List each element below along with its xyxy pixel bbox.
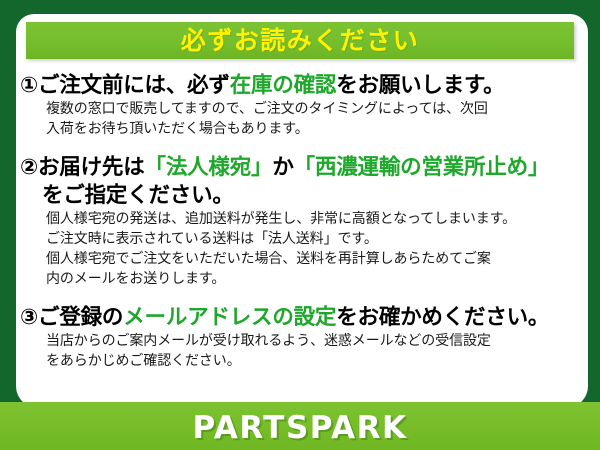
brand-logo: PARTSPARK: [0, 410, 600, 446]
notice-item-2-heading-highlight-2: 「西濃運輸の営業所止め」: [294, 155, 550, 180]
notice-item-3-heading-part-1: ご登録の: [38, 305, 123, 330]
notice-item-1-body: 複数の窓口で販売してますので、ご注文のタイミングによっては、次回 入荷をお待ち頂…: [20, 100, 505, 140]
notice-item-1: ①ご注文前には、必ず在庫の確認をお願いします。 複数の窓口で販売してますので、ご…: [20, 72, 505, 140]
notice-item-2-body: 個人様宅宛の発送は、追加送料が発生し、非常に高額となってしまいます。 ご注文時に…: [20, 210, 549, 290]
notice-item-3-heading-part-3: をお確かめください。: [336, 305, 549, 330]
notice-item-2-body-line-4: 内のメールをお送りします。: [46, 270, 549, 290]
footer-banner: PARTSPARK: [0, 402, 600, 450]
notice-item-2-body-line-3: 個人様宅宛でご注文をいただいた場合、送料を再計算しあらためてご案: [46, 250, 549, 270]
header-title: 必ずお読みください: [26, 22, 574, 59]
notice-item-3-heading-highlight: メールアドレスの設定: [123, 305, 336, 330]
notice-item-3-heading: ③ご登録のメールアドレスの設定をお確かめください。: [20, 304, 549, 332]
notice-card: 必ずお読みください ①ご注文前には、必ず在庫の確認をお願いします。 複数の窓口で…: [0, 0, 600, 450]
header-banner: 必ずお読みください: [26, 22, 574, 59]
notice-item-2-heading-part-1: お届け先は: [38, 155, 145, 180]
notice-item-3-body-line-1: 当店からのご案内メールが受け取れるよう、迷惑メールなどの受信設定: [46, 332, 549, 352]
notice-item-3-body: 当店からのご案内メールが受け取れるよう、迷惑メールなどの受信設定 をあらかじめご…: [20, 332, 549, 372]
notice-item-2-heading-continuation: をご指定ください。: [20, 182, 549, 210]
notice-item-1-heading: ①ご注文前には、必ず在庫の確認をお願いします。: [20, 72, 505, 100]
notice-item-2: ②お届け先は「法人様宛」か「西濃運輸の営業所止め」 をご指定ください。 個人様宅…: [20, 154, 549, 289]
notice-item-2-heading-highlight-1: 「法人様宛」: [145, 155, 273, 180]
notice-item-1-heading-part-3: をお願いします。: [336, 73, 504, 98]
notice-item-3-marker: ③: [20, 305, 38, 330]
notice-item-2-body-line-2: ご注文時に表示されている送料は「法人送料」です。: [46, 230, 549, 250]
notice-item-3: ③ご登録のメールアドレスの設定をお確かめください。 当店からのご案内メールが受け…: [20, 304, 549, 372]
notice-item-1-heading-highlight: 在庫の確認: [230, 73, 337, 98]
notice-item-1-body-line-1: 複数の窓口で販売してますので、ご注文のタイミングによっては、次回: [46, 100, 505, 120]
notice-item-1-marker: ①: [20, 73, 38, 98]
notice-item-2-marker: ②: [20, 155, 38, 180]
notice-item-2-heading: ②お届け先は「法人様宛」か「西濃運輸の営業所止め」: [20, 154, 549, 182]
notice-item-2-heading-part-3: か: [272, 155, 293, 180]
notice-item-1-body-line-2: 入荷をお待ち頂いただく場合もあります。: [46, 120, 505, 140]
notice-content: ①ご注文前には、必ず在庫の確認をお願いします。 複数の窓口で販売してますので、ご…: [16, 66, 588, 396]
notice-item-2-body-line-1: 個人様宅宛の発送は、追加送料が発生し、非常に高額となってしまいます。: [46, 210, 549, 230]
notice-item-1-heading-part-1: ご注文前には、必ず: [38, 73, 230, 98]
notice-item-3-body-line-2: をあらかじめご確認ください。: [46, 352, 549, 372]
